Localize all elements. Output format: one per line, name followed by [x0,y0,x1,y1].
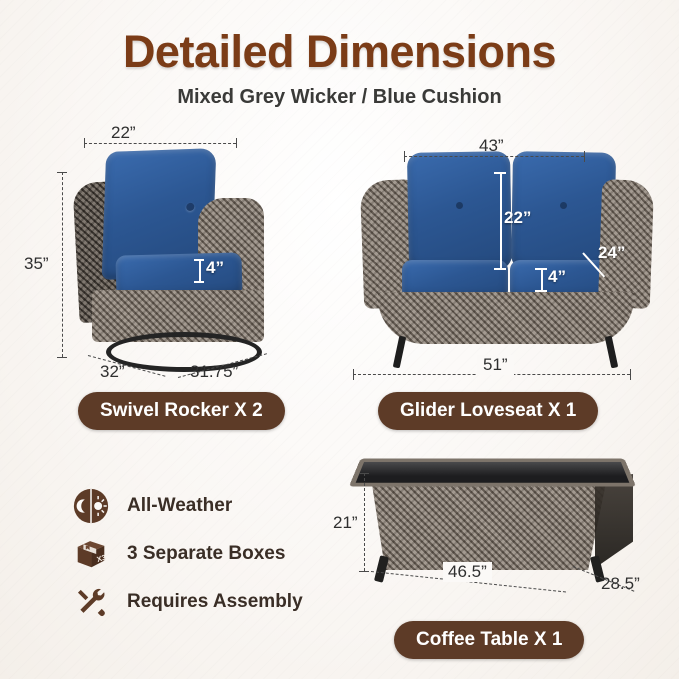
rocker-dim-22: 22” [111,123,136,143]
loveseat-back-height-line [500,172,502,268]
rocker-dim-3175: 31.75” [190,362,238,382]
coffee-table-illustration [355,452,630,592]
glider-loveseat-badge[interactable]: Glider Loveseat X 1 [378,392,598,430]
page-title: Detailed Dimensions [0,28,679,75]
box-count-text: X3 [96,553,107,564]
loveseat-bottom-tick-right [630,369,631,380]
loveseat-back-tick-top [494,172,506,174]
moon-sun-icon [72,487,110,525]
loveseat-cushion-thickness-line [541,268,543,290]
page-subtitle: Mixed Grey Wicker / Blue Cushion [0,86,679,109]
table-dim-21: 21” [333,513,358,533]
rocker-height-tick-top [57,172,67,173]
loveseat-back-cushion-left [407,151,512,271]
coffee-table-badge[interactable]: Coffee Table X 1 [394,621,584,659]
rocker-width-tick-left [84,138,85,148]
rocker-width-line [84,143,236,144]
table-height-tick-top [359,473,369,474]
rocker-height-tick-bottom [57,357,67,358]
rocker-height-line [62,172,63,357]
rocker-dim-35: 35” [24,254,49,274]
loveseat-base-skirt [378,292,634,344]
table-dim-465: 46.5” [443,562,492,582]
box-x3-icon: X3 [72,535,110,573]
loveseat-cushion-tick-top [535,268,547,270]
feature-requires-assembly: Requires Assembly [72,583,303,621]
loveseat-width-tick-left [404,151,405,162]
table-height-tick-bottom [359,571,369,572]
loveseat-dim-24: 24” [598,243,625,263]
rocker-cushion-tick-bottom [194,281,204,283]
cushion-tuft [456,202,463,209]
loveseat-width-tick-right [584,151,585,162]
rocker-cushion-tick-top [194,259,204,261]
table-dim-285: 28.5” [601,574,640,594]
loveseat-dim-51: 51” [477,355,514,375]
feature-all-weather: All-Weather [72,487,232,525]
feature-label: All-Weather [127,495,232,517]
table-side-panel [595,474,633,568]
loveseat-leg-right [605,336,619,369]
loveseat-bottom-tick-left [353,369,354,380]
swivel-rocker-badge[interactable]: Swivel Rocker X 2 [78,392,285,430]
cushion-tuft [560,202,567,209]
rocker-dim-4: 4” [206,258,224,278]
loveseat-dim-22: 22” [504,208,531,228]
rocker-cushion-thickness-line [199,259,201,281]
feature-separate-boxes: X3 3 Separate Boxes [72,535,285,573]
loveseat-back-tick-bottom [494,268,506,270]
infographic-page: Detailed Dimensions Mixed Grey Wicker / … [0,0,679,679]
loveseat-width-line [404,156,584,157]
rocker-width-tick-right [236,138,237,148]
cushion-tuft [186,203,194,211]
swivel-rocker-illustration [70,150,275,365]
feature-label: Requires Assembly [127,591,303,613]
rocker-dim-32: 32” [100,362,125,382]
loveseat-leg-left [393,336,407,369]
tools-icon [72,583,110,621]
table-apron [371,478,607,570]
loveseat-dim-43: 43” [479,136,504,156]
loveseat-cushion-tick-bottom [535,290,547,292]
loveseat-dim-4: 4” [548,267,566,287]
feature-label: 3 Separate Boxes [127,543,285,565]
table-height-line [364,473,365,571]
table-glass-top [349,459,636,487]
